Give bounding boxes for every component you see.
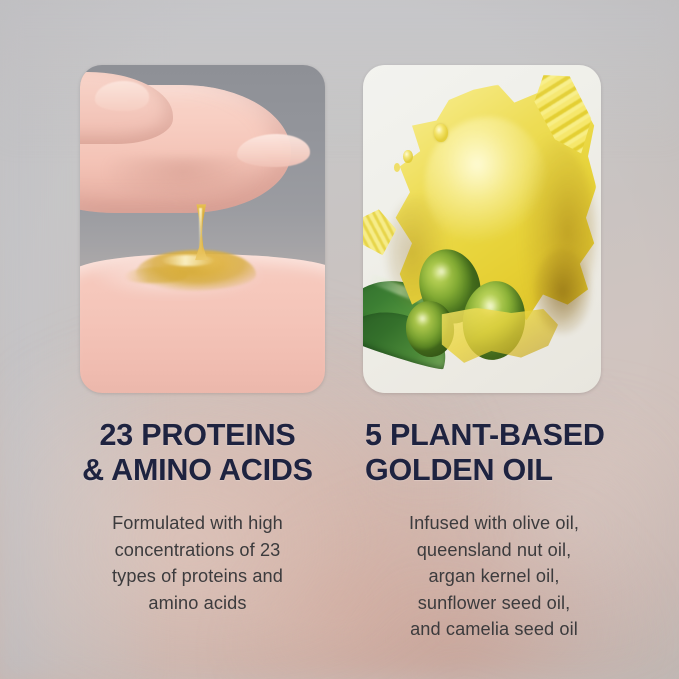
finger-shadow xyxy=(105,157,262,203)
body-line-4: amino acids xyxy=(148,593,246,613)
oil-strand-highlight xyxy=(199,208,203,254)
oil-droplet-large xyxy=(434,124,447,142)
body-line-3: argan kernel oil, xyxy=(428,566,559,586)
body-line-3: types of proteins and xyxy=(112,566,283,586)
feature-body-proteins: Formulated with highconcentrations of 23… xyxy=(60,510,335,616)
upper-fingernail xyxy=(95,81,149,111)
body-line-2: concentrations of 23 xyxy=(115,540,281,560)
heading-line-2: & AMINO ACIDS xyxy=(82,453,313,487)
oil-pool-highlight xyxy=(161,255,215,266)
olive-oil-splash-photo xyxy=(363,65,601,393)
heading-line-1: 23 PROTEINS xyxy=(99,418,295,452)
body-line-2: queensland nut oil, xyxy=(417,540,572,560)
product-feature-graphic: 23 PROTEINS& AMINO ACIDS Formulated with… xyxy=(0,0,679,679)
heading-line-2: GOLDEN OIL xyxy=(365,453,553,487)
oil-dark-depth xyxy=(534,249,591,334)
olive-highlight-back xyxy=(415,311,429,326)
heading-line-1: 5 PLANT-BASED xyxy=(365,418,605,452)
feature-column-golden-oil: 5 PLANT-BASEDGOLDEN OIL Infused with oli… xyxy=(363,418,625,643)
body-line-5: and camelia seed oil xyxy=(410,619,578,639)
feature-column-proteins: 23 PROTEINS& AMINO ACIDS Formulated with… xyxy=(60,418,335,616)
fingertip-oil-drip-photo xyxy=(80,65,325,393)
feature-heading-golden-oil: 5 PLANT-BASEDGOLDEN OIL xyxy=(363,418,625,488)
body-line-1: Infused with olive oil, xyxy=(409,513,579,533)
body-line-4: sunflower seed oil, xyxy=(418,593,571,613)
body-line-1: Formulated with high xyxy=(112,513,283,533)
feature-heading-proteins: 23 PROTEINS& AMINO ACIDS xyxy=(60,418,335,488)
oil-droplet-small xyxy=(394,163,400,172)
feature-body-golden-oil: Infused with olive oil,queensland nut oi… xyxy=(363,510,625,643)
